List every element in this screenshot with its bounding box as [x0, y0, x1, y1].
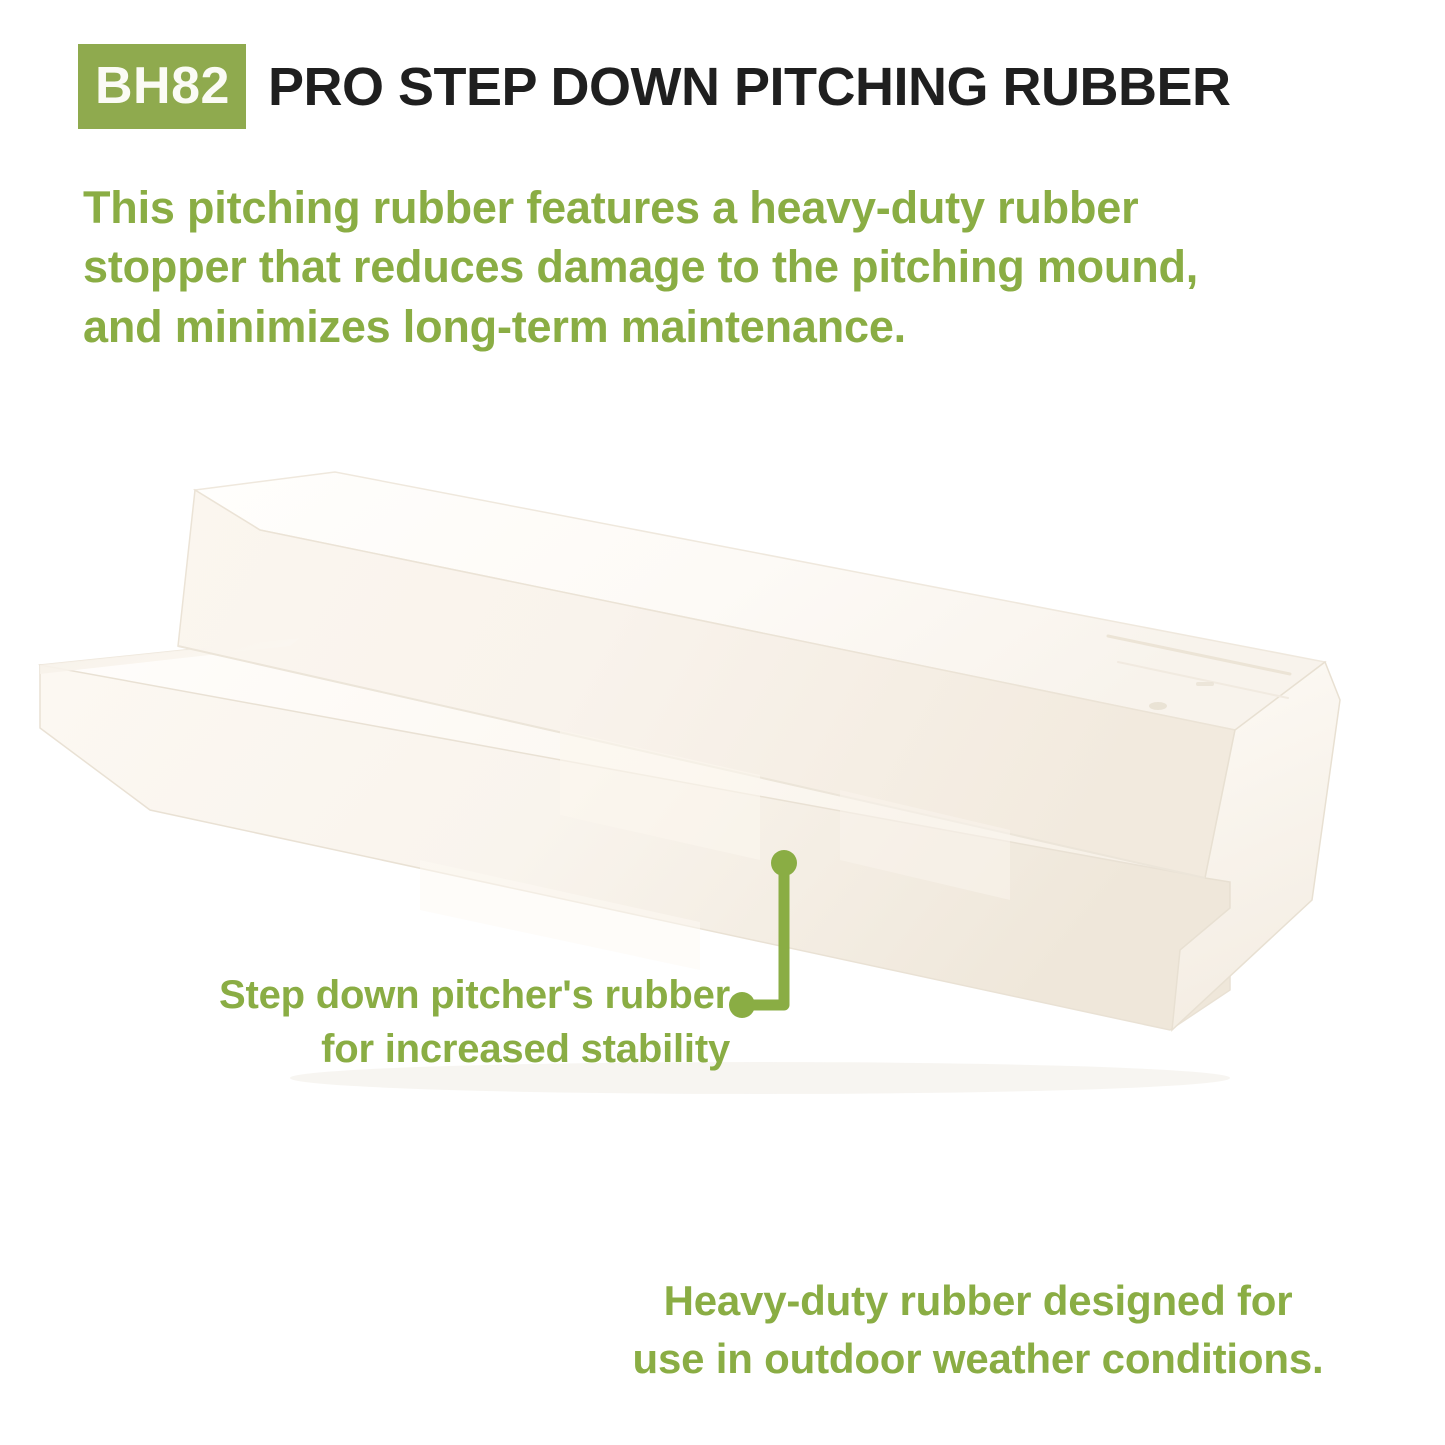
note-heavy-duty: Heavy-duty rubber designed for use in ou…: [563, 1272, 1393, 1387]
leader-endpoint-top-dot: [771, 850, 797, 876]
note-line-1: Heavy-duty rubber designed for: [563, 1272, 1393, 1330]
callout-line-1: Step down pitcher's rubber: [110, 968, 730, 1022]
leader-line-path: [742, 863, 784, 1005]
intro-paragraph: This pitching rubber features a heavy-du…: [83, 178, 1343, 356]
page-title: PRO STEP DOWN PITCHING RUBBER: [268, 60, 1231, 114]
note-line-2: use in outdoor weather conditions.: [563, 1330, 1393, 1388]
intro-line-1: This pitching rubber features a heavy-du…: [83, 178, 1343, 237]
callout-leader-line: [726, 845, 806, 1030]
sku-badge: BH82: [78, 44, 246, 129]
intro-line-2: stopper that reduces damage to the pitch…: [83, 237, 1343, 296]
callout-line-2: for increased stability: [110, 1022, 730, 1076]
callout-step-down: Step down pitcher's rubber for increased…: [110, 968, 730, 1077]
leader-endpoint-left-dot: [729, 992, 755, 1018]
molding-mark-dot: [1149, 702, 1167, 710]
infographic-page: BH82 PRO STEP DOWN PITCHING RUBBER This …: [0, 0, 1445, 1445]
molding-mark-dash: [1196, 682, 1214, 686]
header: BH82 PRO STEP DOWN PITCHING RUBBER: [78, 44, 1231, 129]
intro-line-3: and minimizes long-term maintenance.: [83, 297, 1343, 356]
